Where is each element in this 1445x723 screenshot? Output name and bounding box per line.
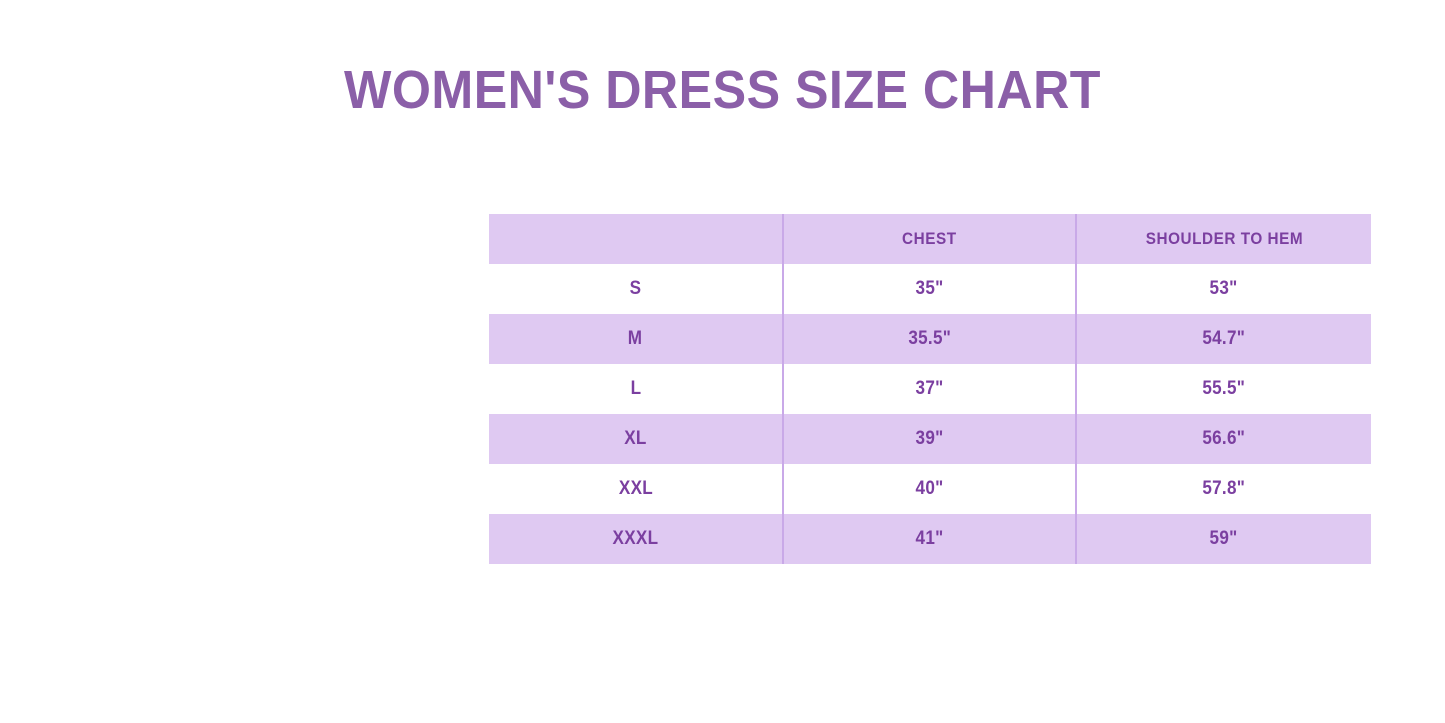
cell-chest: 39": [783, 414, 1076, 464]
cell-size-value: M: [628, 328, 643, 350]
table-row: L 37" 55.5": [489, 364, 1371, 414]
cell-hem-value: 56.6": [1203, 428, 1246, 450]
table-header-row: CHEST SHOULDER TO HEM: [489, 214, 1371, 264]
table-row: XL 39" 56.6": [489, 414, 1371, 464]
cell-size-value: XXXL: [613, 528, 659, 550]
cell-size: XXXL: [489, 514, 783, 564]
cell-size: M: [489, 314, 783, 364]
cell-size-value: L: [630, 378, 641, 400]
cell-chest-value: 37": [916, 378, 944, 400]
table-row: XXL 40" 57.8": [489, 464, 1371, 514]
size-chart-table: CHEST SHOULDER TO HEM S 35" 53" M 35.5" …: [489, 214, 1371, 564]
cell-hem-value: 53": [1210, 278, 1238, 300]
table-row: XXXL 41" 59": [489, 514, 1371, 564]
cell-chest-value: 35.5": [908, 328, 951, 350]
column-header-shoulder-to-hem-label: SHOULDER TO HEM: [1145, 229, 1302, 249]
cell-hem-value: 55.5": [1203, 378, 1246, 400]
table-header: CHEST SHOULDER TO HEM: [489, 214, 1371, 264]
table-row: M 35.5" 54.7": [489, 314, 1371, 364]
cell-hem-value: 59": [1210, 528, 1238, 550]
column-header-chest: CHEST: [783, 214, 1076, 264]
table-row: S 35" 53": [489, 264, 1371, 314]
table-body: S 35" 53" M 35.5" 54.7" L 37" 55.5" XL 3…: [489, 264, 1371, 564]
cell-hem: 54.7": [1076, 314, 1371, 364]
page-title: WOMEN'S DRESS SIZE CHART: [51, 58, 1395, 122]
cell-chest-value: 35": [916, 278, 944, 300]
cell-hem-value: 57.8": [1203, 478, 1246, 500]
cell-hem-value: 54.7": [1203, 328, 1246, 350]
page-canvas: WOMEN'S DRESS SIZE CHART CHEST SHOULDER …: [0, 0, 1445, 723]
cell-size-value: XXL: [618, 478, 652, 500]
column-header-size: [489, 214, 783, 264]
cell-size: L: [489, 364, 783, 414]
cell-size-value: XL: [624, 428, 646, 450]
cell-hem: 53": [1076, 264, 1371, 314]
cell-chest: 37": [783, 364, 1076, 414]
column-header-chest-label: CHEST: [902, 229, 957, 249]
cell-chest: 35.5": [783, 314, 1076, 364]
cell-chest-value: 40": [916, 478, 944, 500]
cell-hem: 59": [1076, 514, 1371, 564]
cell-size: XXL: [489, 464, 783, 514]
cell-size: S: [489, 264, 783, 314]
cell-chest: 40": [783, 464, 1076, 514]
cell-size: XL: [489, 414, 783, 464]
cell-chest: 35": [783, 264, 1076, 314]
cell-chest: 41": [783, 514, 1076, 564]
cell-chest-value: 41": [916, 528, 944, 550]
cell-size-value: S: [630, 278, 642, 300]
cell-chest-value: 39": [916, 428, 944, 450]
cell-hem: 56.6": [1076, 414, 1371, 464]
cell-hem: 55.5": [1076, 364, 1371, 414]
cell-hem: 57.8": [1076, 464, 1371, 514]
column-header-shoulder-to-hem: SHOULDER TO HEM: [1076, 214, 1371, 264]
